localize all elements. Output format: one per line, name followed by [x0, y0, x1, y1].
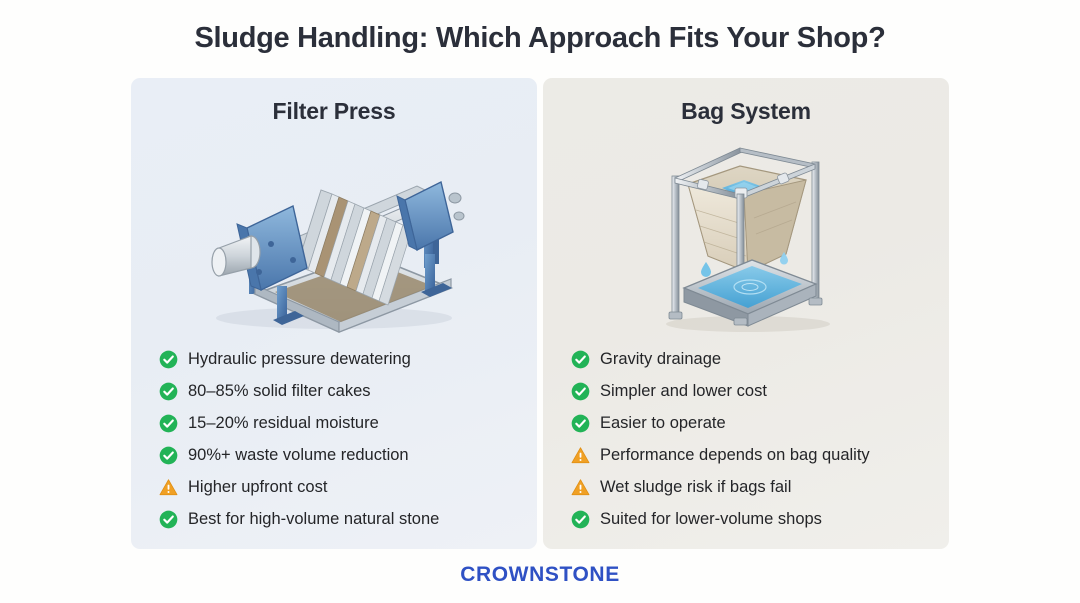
list-item: Performance depends on bag quality [571, 439, 949, 471]
check-icon [571, 350, 590, 369]
check-icon [159, 446, 178, 465]
filter-press-icon [189, 136, 479, 336]
check-icon [159, 510, 178, 529]
list-item-label: Gravity drainage [600, 351, 721, 368]
filter-press-illustration [131, 136, 537, 346]
list-item-label: 15–20% residual moisture [188, 415, 379, 432]
check-icon [159, 414, 178, 433]
bag-system-illustration [543, 136, 949, 346]
bullet-list-bag-system: Gravity drainage Simpler and lower cost … [571, 343, 949, 535]
warning-icon [571, 446, 590, 465]
card-title-filter-press: Filter Press [131, 98, 537, 125]
list-item-label: Suited for lower-volume shops [600, 511, 822, 528]
list-item-label: Simpler and lower cost [600, 383, 767, 400]
warning-icon [159, 478, 178, 497]
list-item: 80–85% solid filter cakes [159, 375, 537, 407]
bag-system-icon [636, 136, 856, 336]
list-item-label: Higher upfront cost [188, 479, 327, 496]
check-icon [571, 382, 590, 401]
card-title-bag-system: Bag System [543, 98, 949, 125]
list-item: Gravity drainage [571, 343, 949, 375]
card-filter-press: Filter Press [131, 78, 537, 549]
list-item-label: Wet sludge risk if bags fail [600, 479, 791, 496]
warning-icon [571, 478, 590, 497]
check-icon [571, 510, 590, 529]
check-icon [159, 350, 178, 369]
list-item-label: Easier to operate [600, 415, 726, 432]
list-item: Higher upfront cost [159, 471, 537, 503]
list-item-label: 80–85% solid filter cakes [188, 383, 371, 400]
list-item: Suited for lower-volume shops [571, 503, 949, 535]
bullet-list-filter-press: Hydraulic pressure dewatering 80–85% sol… [159, 343, 537, 535]
list-item: Easier to operate [571, 407, 949, 439]
list-item-label: Performance depends on bag quality [600, 447, 870, 464]
list-item: Wet sludge risk if bags fail [571, 471, 949, 503]
check-icon [571, 414, 590, 433]
list-item: 15–20% residual moisture [159, 407, 537, 439]
list-item: 90%+ waste volume reduction [159, 439, 537, 471]
list-item: Simpler and lower cost [571, 375, 949, 407]
card-bag-system: Bag System [543, 78, 949, 549]
comparison-cards: Filter Press [131, 78, 949, 549]
infographic-page: Sludge Handling: Which Approach Fits You… [0, 0, 1080, 603]
list-item-label: Best for high-volume natural stone [188, 511, 439, 528]
list-item: Hydraulic pressure dewatering [159, 343, 537, 375]
page-title: Sludge Handling: Which Approach Fits You… [0, 22, 1080, 55]
list-item-label: Hydraulic pressure dewatering [188, 351, 411, 368]
list-item-label: 90%+ waste volume reduction [188, 447, 409, 464]
brand-footer: CROWNSTONE [0, 563, 1080, 587]
list-item: Best for high-volume natural stone [159, 503, 537, 535]
check-icon [159, 382, 178, 401]
